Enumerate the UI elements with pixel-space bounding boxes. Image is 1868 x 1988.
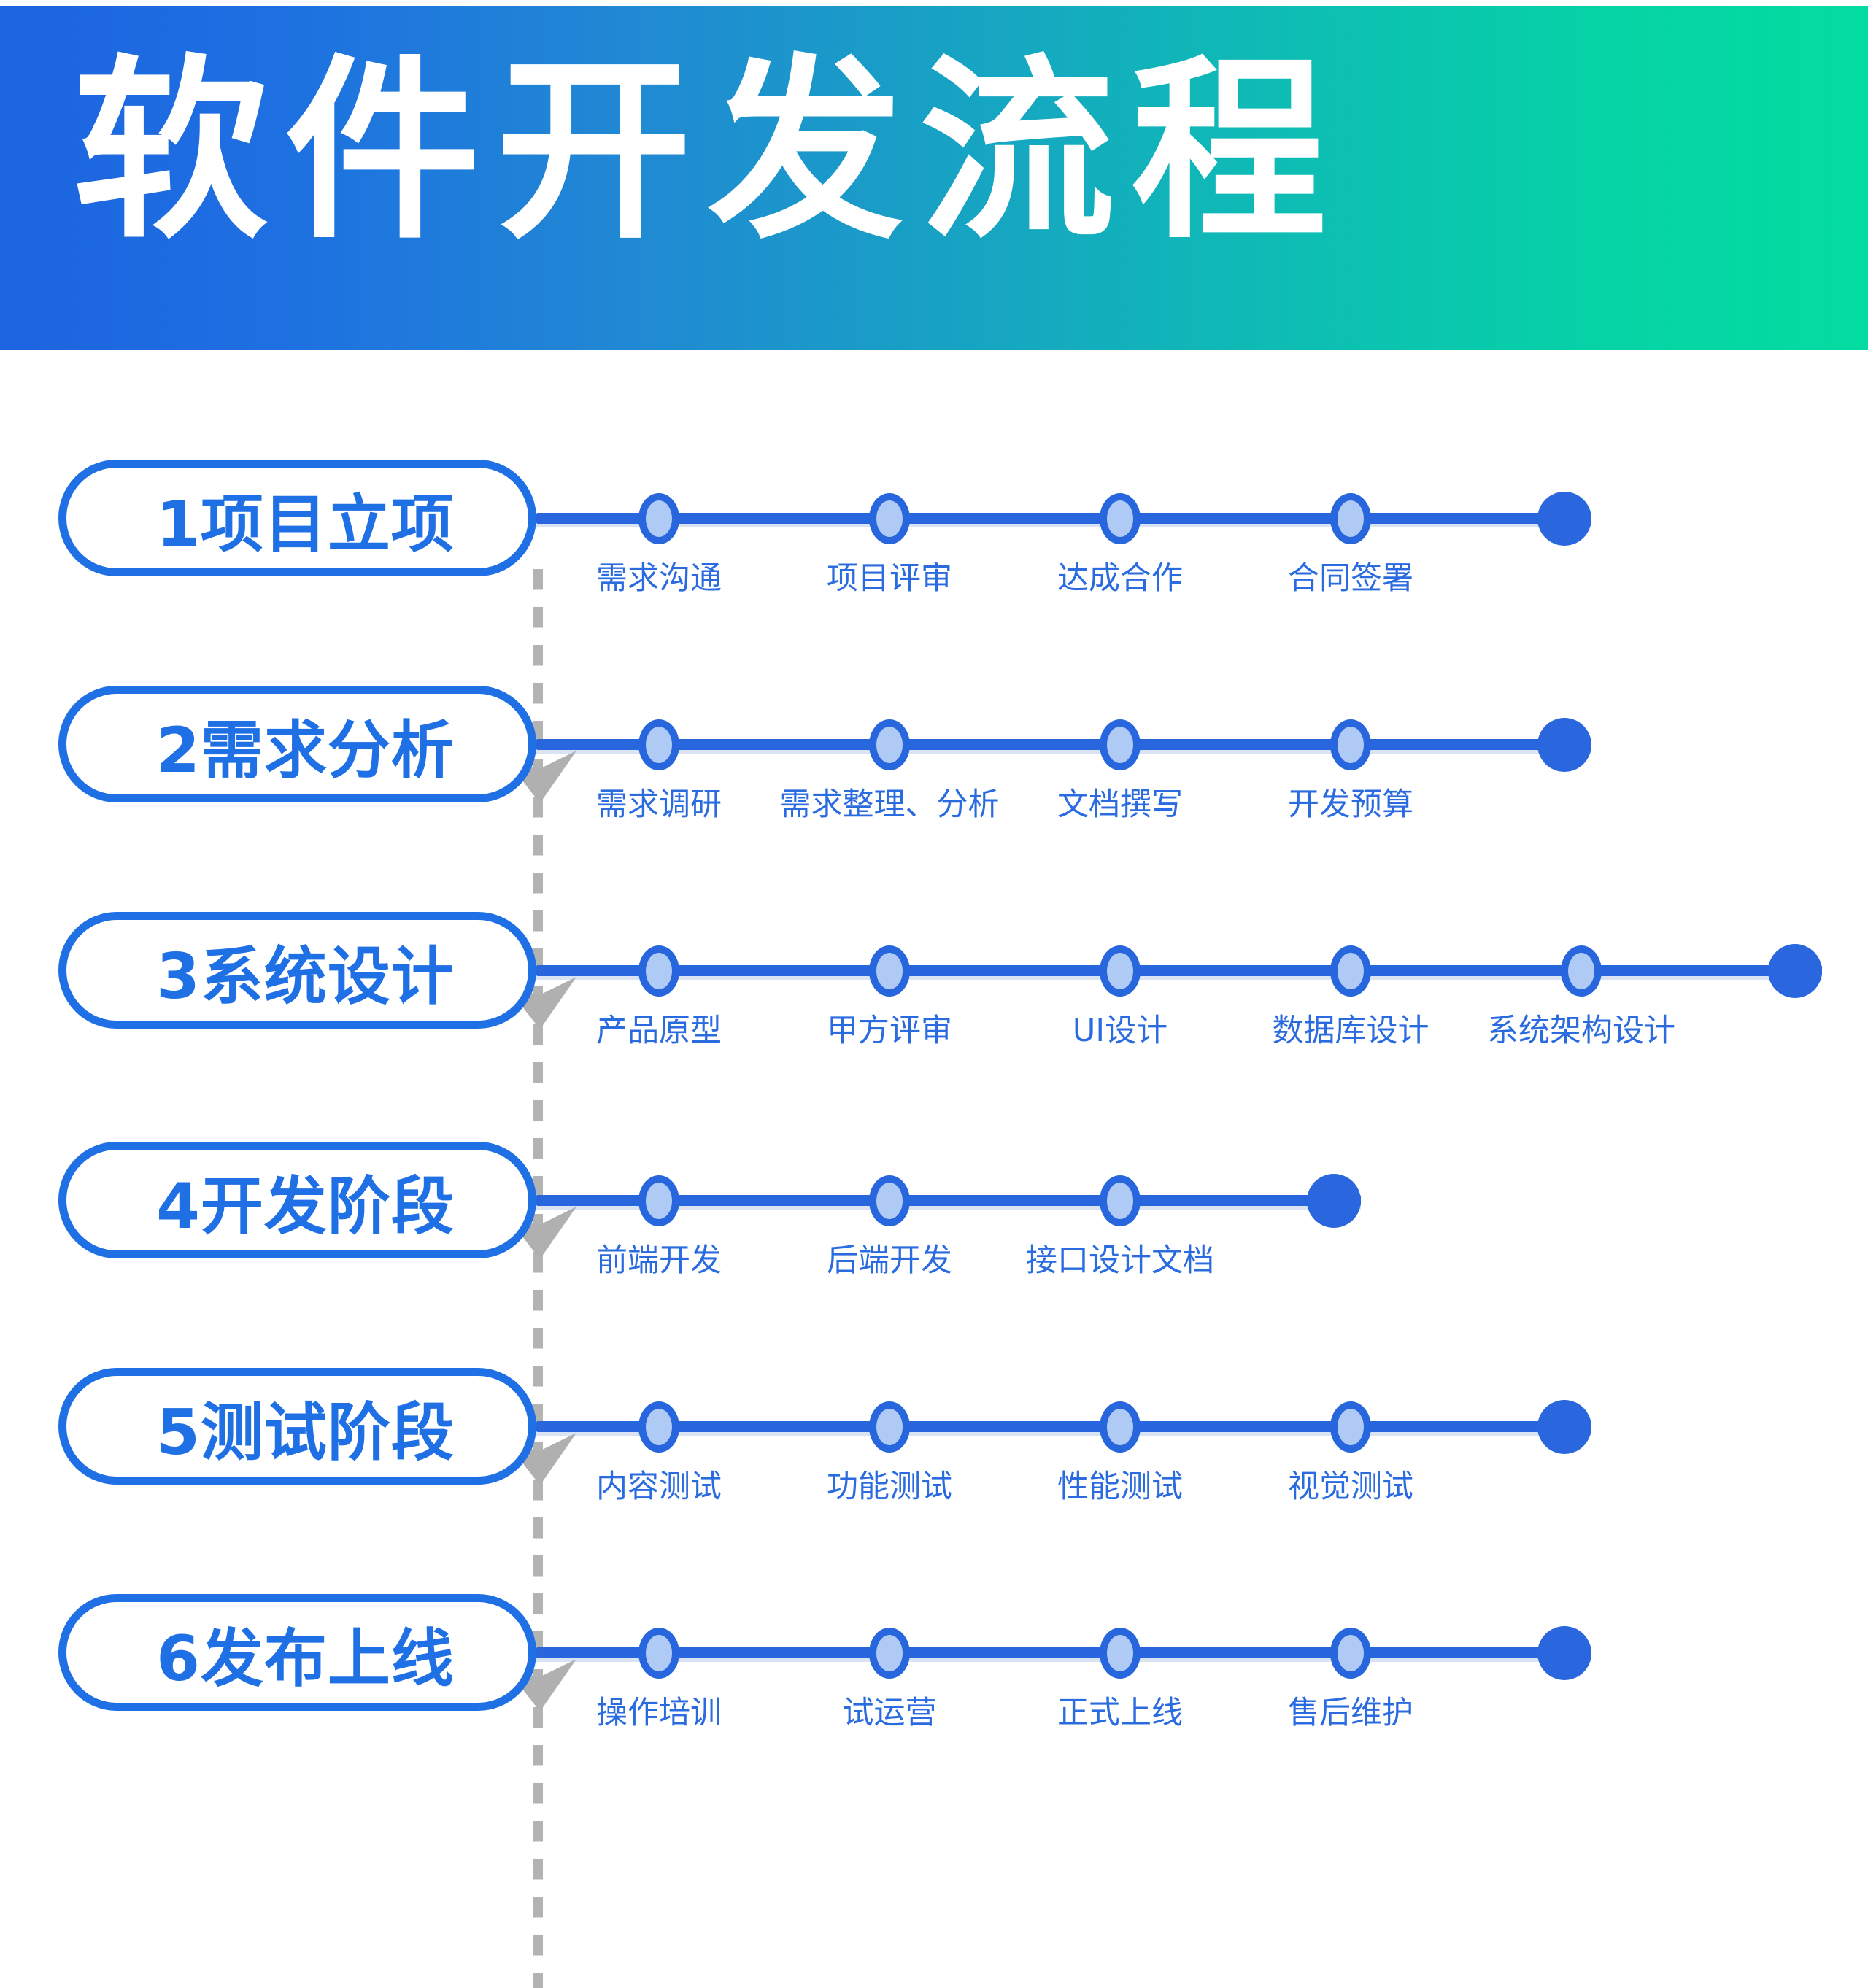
stage-pill-label: 4开发阶段 [66, 1150, 544, 1250]
timeline-node[interactable] [638, 1175, 679, 1226]
timeline-node-label: 前端开发 [596, 1235, 722, 1280]
timeline-track-shadow [536, 524, 1591, 527]
timeline-node-label: 甲方评审 [827, 1005, 952, 1051]
timeline-track-shadow [536, 750, 1591, 754]
timeline-end-marker [1307, 1174, 1361, 1228]
timeline-end-marker [1537, 1626, 1591, 1680]
timeline-node[interactable] [1330, 945, 1371, 997]
timeline-node[interactable] [869, 1175, 910, 1226]
header-banner: 软件开发流程 [0, 6, 1868, 350]
timeline-node-label: 产品原型 [596, 1005, 722, 1051]
stage-pill-4[interactable]: 4开发阶段 [58, 1142, 536, 1258]
stage-pill-label: 1项目立项 [66, 468, 544, 568]
timeline-node[interactable] [1100, 1401, 1141, 1453]
timeline-node[interactable] [1100, 1628, 1141, 1679]
timeline-node-label: 正式上线 [1057, 1687, 1183, 1733]
timeline-node[interactable] [869, 945, 910, 997]
timeline-node-label: 接口设计文档 [1026, 1235, 1214, 1280]
process-flow: 1项目立项需求沟通项目评审达成合作合同签署2需求分析需求调研需求整理、分析文档撰… [0, 350, 1868, 1846]
timeline-node-label: 文档撰写 [1057, 779, 1183, 824]
timeline-track [536, 1647, 1591, 1658]
timeline-node[interactable] [1330, 1628, 1371, 1679]
timeline-track [536, 1421, 1591, 1432]
timeline-node[interactable] [638, 1401, 679, 1453]
timeline-node-label: 内容测试 [596, 1461, 722, 1507]
timeline-node-label: 开发预算 [1288, 779, 1413, 824]
timeline-node[interactable] [638, 945, 679, 997]
timeline-node-label: 操作培训 [596, 1687, 722, 1733]
timeline-track-shadow [536, 976, 1822, 980]
stage-row: 1项目立项需求沟通项目评审达成合作合同签署 [0, 460, 1868, 635]
stage-row: 4开发阶段前端开发后端开发接口设计文档 [0, 1142, 1868, 1317]
timeline-node-label: 需求调研 [596, 779, 722, 824]
timeline-node[interactable] [638, 493, 679, 544]
timeline-node-label: 项目评审 [827, 553, 952, 598]
timeline-node[interactable] [1100, 1175, 1141, 1226]
timeline-end-marker [1768, 944, 1822, 998]
timeline-node[interactable] [869, 1628, 910, 1679]
timeline-end-marker [1537, 718, 1591, 772]
timeline-node-label: 需求整理、分析 [780, 779, 1000, 824]
timeline-node[interactable] [1330, 493, 1371, 544]
timeline-node[interactable] [1330, 719, 1371, 770]
stage-row: 6发布上线操作培训试运营正式上线售后维护 [0, 1594, 1868, 1769]
timeline-track [536, 739, 1591, 750]
timeline-node[interactable] [869, 1401, 910, 1453]
timeline-end-marker [1537, 1400, 1591, 1454]
timeline-node[interactable] [638, 1628, 679, 1679]
stage-pill-label: 5测试阶段 [66, 1376, 544, 1477]
timeline-node[interactable] [638, 719, 679, 770]
software-development-process-infographic: 软件开发流程 1项目立项需求沟通项目评审达成合作合同签署2需求分析需求调研需求整… [0, 0, 1868, 1846]
stage-row: 2需求分析需求调研需求整理、分析文档撰写开发预算 [0, 686, 1868, 861]
timeline-node[interactable] [869, 493, 910, 544]
stage-row: 3系统设计产品原型甲方评审UI设计数据库设计系统架构设计 [0, 912, 1868, 1087]
timeline-node-label: 数据库设计 [1273, 1005, 1429, 1051]
timeline-node[interactable] [1100, 493, 1141, 544]
stage-pill-3[interactable]: 3系统设计 [58, 912, 536, 1029]
timeline-node-label: 系统架构设计 [1487, 1005, 1675, 1051]
timeline-node[interactable] [1100, 945, 1141, 997]
timeline-node[interactable] [1561, 945, 1602, 997]
stage-pill-2[interactable]: 2需求分析 [58, 686, 536, 802]
stage-pill-1[interactable]: 1项目立项 [58, 460, 536, 576]
timeline-node-label: 售后维护 [1288, 1687, 1413, 1733]
timeline-node-label: 达成合作 [1057, 553, 1183, 598]
stage-pill-label: 6发布上线 [66, 1602, 544, 1703]
timeline-track-shadow [536, 1658, 1591, 1662]
timeline-node-label: 性能测试 [1057, 1461, 1183, 1507]
stage-pill-5[interactable]: 5测试阶段 [58, 1368, 536, 1485]
stage-pill-label: 3系统设计 [66, 920, 544, 1021]
timeline-node-label: 需求沟通 [596, 553, 722, 598]
page-title: 软件开发流程 [73, 42, 1343, 261]
timeline-track [536, 513, 1591, 524]
stage-pill-6[interactable]: 6发布上线 [58, 1594, 536, 1711]
timeline-node[interactable] [869, 719, 910, 770]
timeline-track-shadow [536, 1432, 1591, 1436]
timeline-node-label: 后端开发 [827, 1235, 952, 1280]
timeline-node-label: 功能测试 [827, 1461, 952, 1507]
timeline-node[interactable] [1330, 1401, 1371, 1453]
timeline-node-label: 视觉测试 [1288, 1461, 1413, 1507]
timeline-node[interactable] [1100, 719, 1141, 770]
timeline-track [536, 965, 1822, 976]
timeline-node-label: 试运营 [843, 1687, 937, 1733]
timeline-node-label: UI设计 [1073, 1005, 1167, 1051]
timeline-end-marker [1537, 492, 1591, 546]
stage-row: 5测试阶段内容测试功能测试性能测试视觉测试 [0, 1368, 1868, 1543]
stage-pill-label: 2需求分析 [66, 694, 544, 794]
timeline-node-label: 合同签署 [1288, 553, 1413, 598]
